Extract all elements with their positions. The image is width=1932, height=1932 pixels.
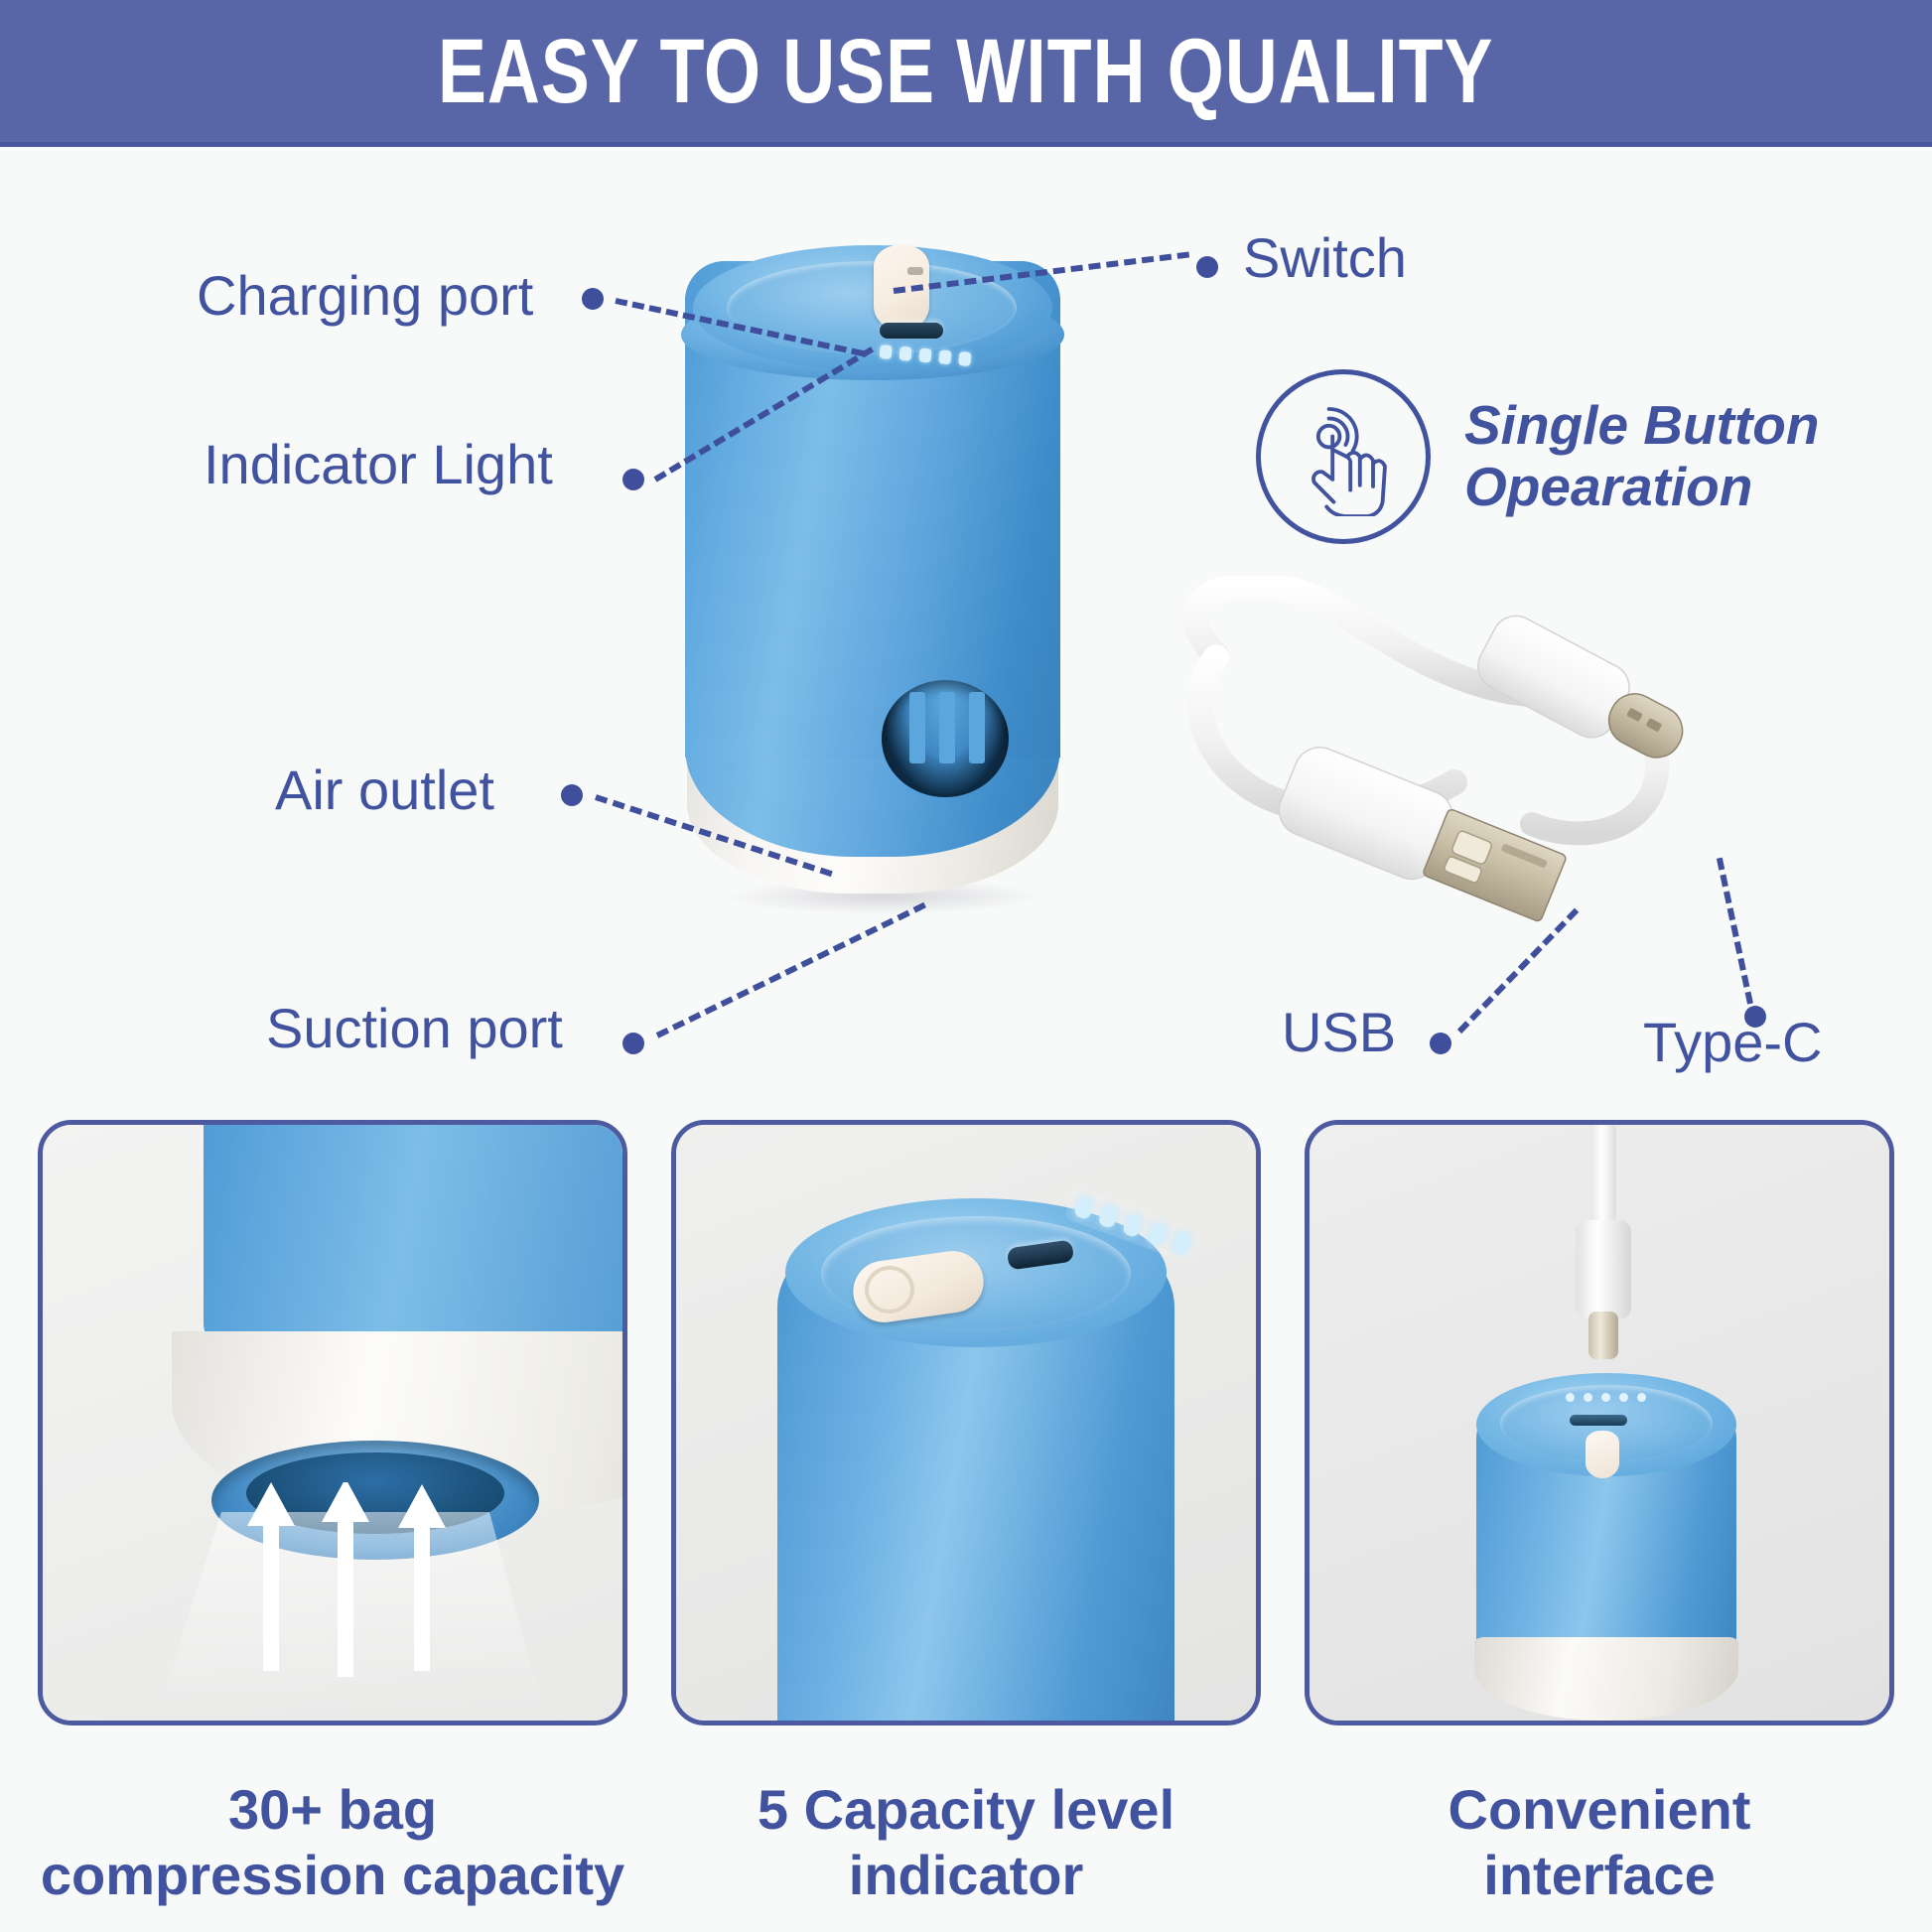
callout-dot-type-c — [1744, 1006, 1766, 1028]
panel-charging-interface — [1305, 1120, 1894, 1725]
panel-1-blue-body — [204, 1120, 627, 1363]
panel-2-caption-line-2: indicator — [671, 1843, 1261, 1908]
panel-air-flow — [38, 1120, 627, 1725]
panel-2-led-2 — [1097, 1203, 1120, 1229]
callout-dot-suction-port — [622, 1033, 644, 1054]
single-button-badge: Single Button Opearation — [1256, 369, 1819, 544]
product-hero-image — [685, 204, 1060, 918]
usb-cable-image — [1157, 576, 1891, 953]
callout-label-switch: Switch — [1243, 230, 1407, 286]
led-1 — [880, 345, 893, 359]
led-2 — [898, 346, 911, 361]
panel-2-caption: 5 Capacity level indicator — [671, 1777, 1261, 1908]
panel-1-caption-line-2: compression capacity — [38, 1843, 627, 1908]
callout-label-suction-port: Suction port — [266, 1001, 563, 1056]
product-top-inset — [727, 261, 1017, 354]
panel-3-caption-line-1: Convenient — [1305, 1777, 1894, 1843]
callout-label-charging-port: Charging port — [197, 268, 533, 324]
callout-dot-switch — [1196, 256, 1218, 278]
panel-3-caption-line-2: interface — [1305, 1843, 1894, 1908]
panel-3-led-5 — [1637, 1393, 1646, 1402]
callout-label-type-c: Type-C — [1643, 1015, 1823, 1070]
badge-line-2: Opearation — [1464, 457, 1819, 518]
panel-3-typec-shell — [1576, 1220, 1631, 1319]
callout-dot-usb — [1430, 1033, 1451, 1054]
led-3 — [918, 348, 931, 363]
panel-2-caption-line-1: 5 Capacity level — [671, 1777, 1261, 1843]
panel-3-power-switch[interactable] — [1586, 1431, 1619, 1478]
callout-dot-charging-port — [582, 288, 604, 310]
panel-3-led-3 — [1601, 1393, 1610, 1402]
touch-tap-icon — [1256, 369, 1431, 544]
panel-3-cable — [1590, 1120, 1616, 1228]
callout-dot-indicator-light — [622, 469, 644, 490]
led-5 — [958, 351, 971, 366]
panel-capacity-indicator — [671, 1120, 1261, 1725]
callout-label-usb: USB — [1282, 1005, 1396, 1060]
callout-leader-suction-port — [656, 902, 926, 1038]
panel-1-airflow-arrows — [162, 1482, 599, 1725]
panel-2-led-1 — [1073, 1194, 1096, 1220]
charging-port-slot — [880, 323, 943, 339]
panel-3-led-row — [1566, 1393, 1646, 1402]
air-outlet-port — [882, 680, 1009, 797]
header-banner: EASY TO USE WITH QUALITY — [0, 0, 1932, 142]
panel-2-led-3 — [1122, 1212, 1145, 1238]
header-divider — [0, 142, 1932, 147]
panel-3-charging-port — [1570, 1415, 1627, 1426]
panel-2-led-4 — [1146, 1221, 1169, 1247]
infographic-canvas: EASY TO USE WITH QUALITY Charging port S… — [0, 0, 1932, 1932]
panel-3-caption: Convenient interface — [1305, 1777, 1894, 1908]
led-4 — [938, 349, 951, 364]
panel-3-led-1 — [1566, 1393, 1575, 1402]
page-title: EASY TO USE WITH QUALITY — [438, 26, 1493, 117]
badge-line-1: Single Button — [1464, 395, 1819, 457]
panel-3-led-4 — [1619, 1393, 1628, 1402]
callout-label-air-outlet: Air outlet — [275, 762, 494, 818]
panel-2-led-5 — [1171, 1230, 1193, 1256]
panel-3-typec-tip — [1588, 1311, 1618, 1359]
callout-dot-air-outlet — [561, 784, 583, 806]
panel-1-caption: 30+ bag compression capacity — [38, 1777, 627, 1908]
callout-label-indicator-light: Indicator Light — [204, 437, 553, 492]
panel-1-caption-line-1: 30+ bag — [38, 1777, 627, 1843]
panel-3-led-2 — [1584, 1393, 1592, 1402]
badge-text: Single Button Opearation — [1464, 395, 1819, 517]
